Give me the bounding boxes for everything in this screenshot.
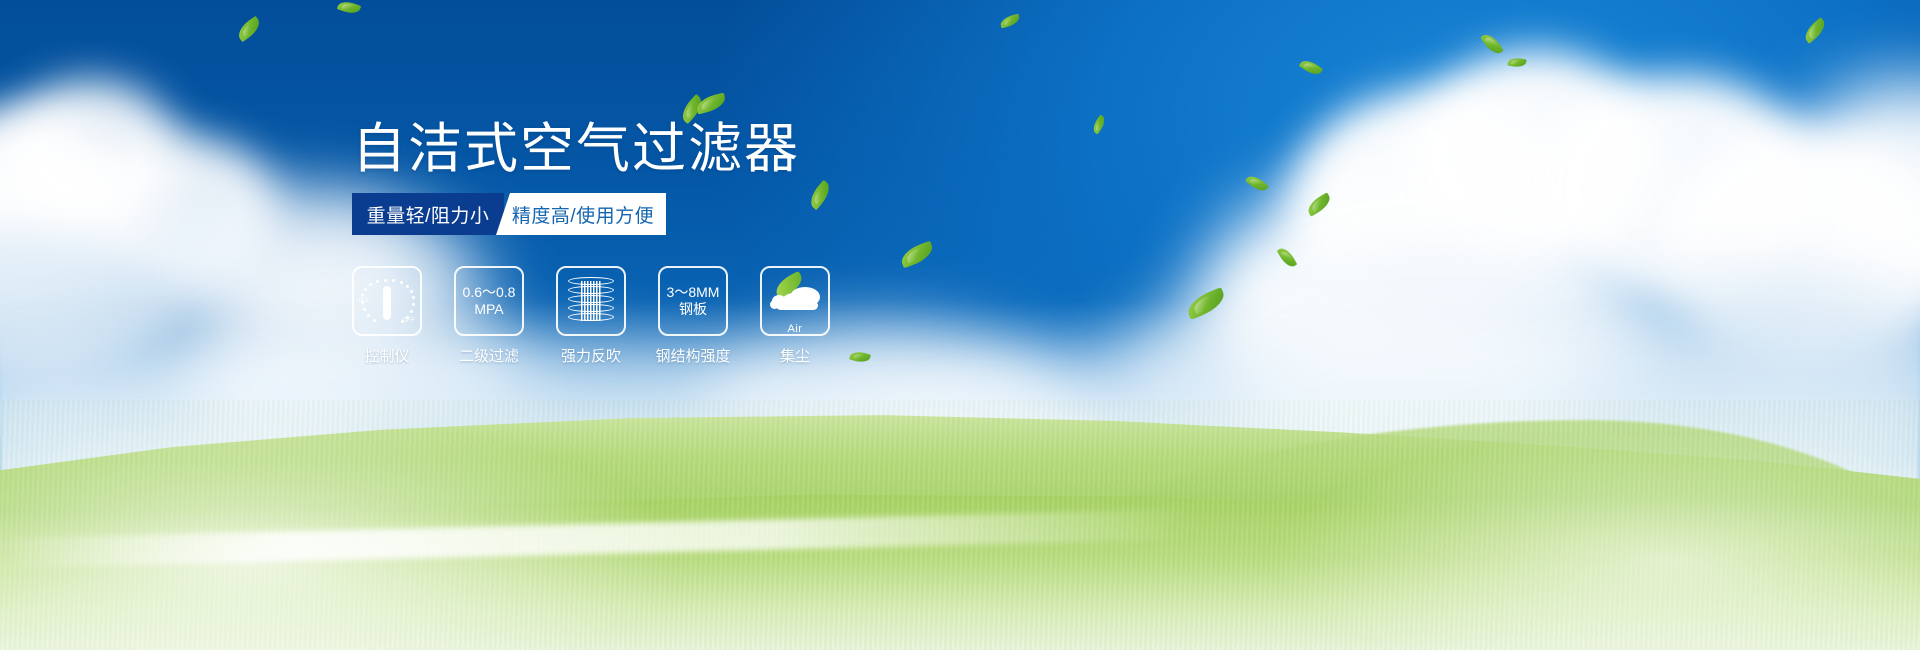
feature-caption: 二级过滤 — [459, 345, 519, 366]
gauge-needle — [383, 286, 391, 320]
feature-item-strong-backblow[interactable]: 强力反吹 — [556, 266, 626, 366]
hero-banner: 自洁式空气过滤器 重量轻/阻力小 精度高/使用方便 — [0, 0, 1920, 650]
steel-plate-text-icon: 3～8MM 钢板 — [667, 284, 720, 318]
feature-icon-box: 3～8MM 钢板 — [658, 266, 728, 336]
feature-item-secondary-filtration[interactable]: 0.6～0.8 MPA 二级过滤 — [454, 266, 524, 366]
tab-lightweight-lowresistance[interactable]: 重量轻/阻力小 — [352, 193, 504, 235]
gauge-label-off: OFF — [402, 318, 415, 324]
pressure-text-icon: 0.6～0.8 MPA — [463, 284, 516, 318]
feature-caption: 集尘 — [780, 345, 810, 366]
feature-icon-box: Air — [760, 266, 830, 336]
gauge-label-no: NO — [359, 298, 369, 304]
feature-item-dust-collection[interactable]: Air 集尘 — [760, 266, 830, 366]
feature-caption: 钢结构强度 — [656, 345, 731, 366]
gauge-icon: NO OFF — [360, 276, 414, 326]
air-label: Air — [768, 323, 822, 335]
banner-content: 自洁式空气过滤器 重量轻/阻力小 精度高/使用方便 — [0, 0, 1920, 650]
feature-icon-box: 0.6～0.8 MPA — [454, 266, 524, 336]
tab-group: 重量轻/阻力小 精度高/使用方便 — [352, 193, 666, 235]
feature-caption: 控制仪 — [364, 345, 409, 366]
feature-icon-box — [556, 266, 626, 336]
feature-item-steel-strength[interactable]: 3～8MM 钢板 钢结构强度 — [658, 266, 728, 366]
feature-icon-box: NO OFF — [352, 266, 422, 336]
feature-item-controller[interactable]: NO OFF 控制仪 — [352, 266, 422, 366]
page-title: 自洁式空气过滤器 — [352, 118, 800, 180]
feature-caption: 强力反吹 — [561, 345, 621, 366]
dust-cloud-icon: Air — [768, 281, 822, 321]
tab-precision-easyuse[interactable]: 精度高/使用方便 — [496, 193, 666, 235]
feature-list: NO OFF 控制仪 0.6～0.8 MPA 二级过滤 — [352, 266, 830, 366]
filter-cartridge-icon — [568, 277, 614, 325]
